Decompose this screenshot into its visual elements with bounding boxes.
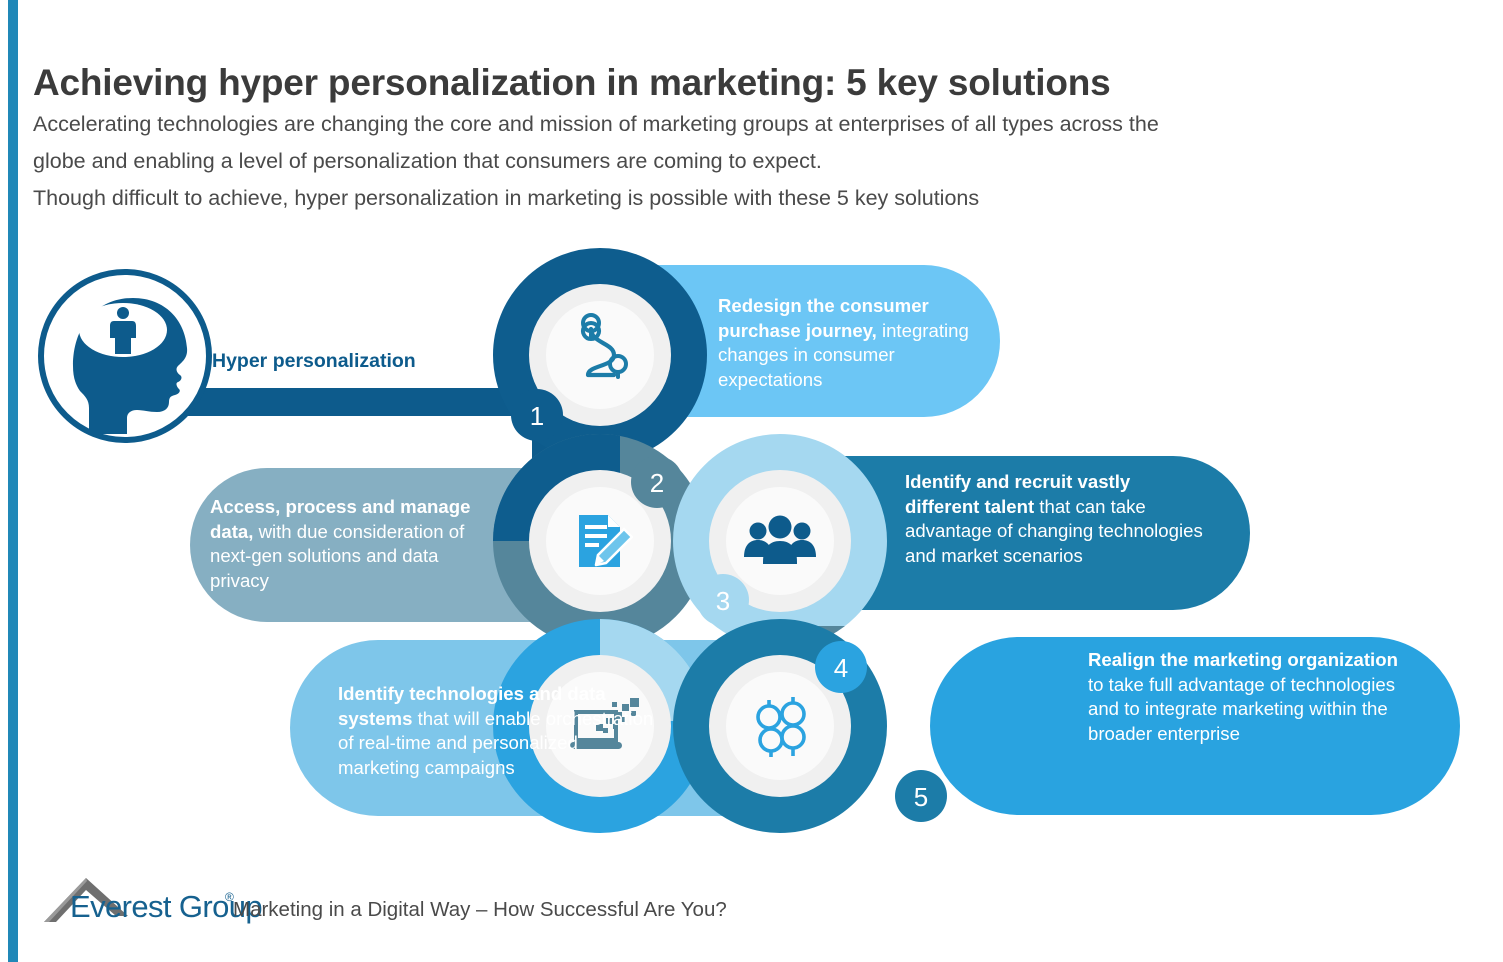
infographic-canvas: Achieving hyper personalization in marke… [0,0,1503,962]
process-diagram: 1 2 3 4 5 Hyper personalization Redes [0,236,1503,856]
step-3-badge: 3 [697,574,749,626]
step-5-badge-number: 5 [914,782,928,812]
step-5-text-rest: to take full advantage of technologies a… [1088,674,1395,744]
page-title: Achieving hyper personalization in marke… [33,63,1373,104]
step-2-badge-number: 2 [650,468,664,498]
hub-label: Hyper personalization [212,350,416,373]
subtitle-line-1: Accelerating technologies are changing t… [33,106,1433,143]
step-4-text: Identify technologies and data systems t… [338,682,658,781]
step-2-badge: 2 [631,456,683,508]
step-5-text: Realign the marketing organization to ta… [1088,648,1398,747]
step-1-badge: 1 [511,389,563,441]
subtitle-line-2: globe and enabling a level of personaliz… [33,143,1433,180]
step-3-text: Identify and recruit vastly different ta… [905,470,1205,569]
subtitle-line-3: Though difficult to achieve, hyper perso… [33,180,1433,217]
step-3-badge-number: 3 [716,586,730,616]
step-5-badge: 5 [895,770,947,822]
step-2-text: Access, process and manage data, with du… [210,495,496,594]
page-subtitle: Accelerating technologies are changing t… [33,106,1433,217]
step-4-badge-number: 4 [834,653,848,683]
footer-caption: Marketing in a Digital Way – How Success… [233,898,727,922]
step-1-text: Redesign the consumer purchase journey, … [718,294,980,393]
footer: Everest Group ® Marketing in a Digital W… [40,872,1440,942]
step-5-text-bold: Realign the marketing organization [1088,649,1398,670]
step-1-badge-number: 1 [530,401,544,431]
step-4-badge: 4 [815,641,867,693]
hub-node [41,272,209,440]
